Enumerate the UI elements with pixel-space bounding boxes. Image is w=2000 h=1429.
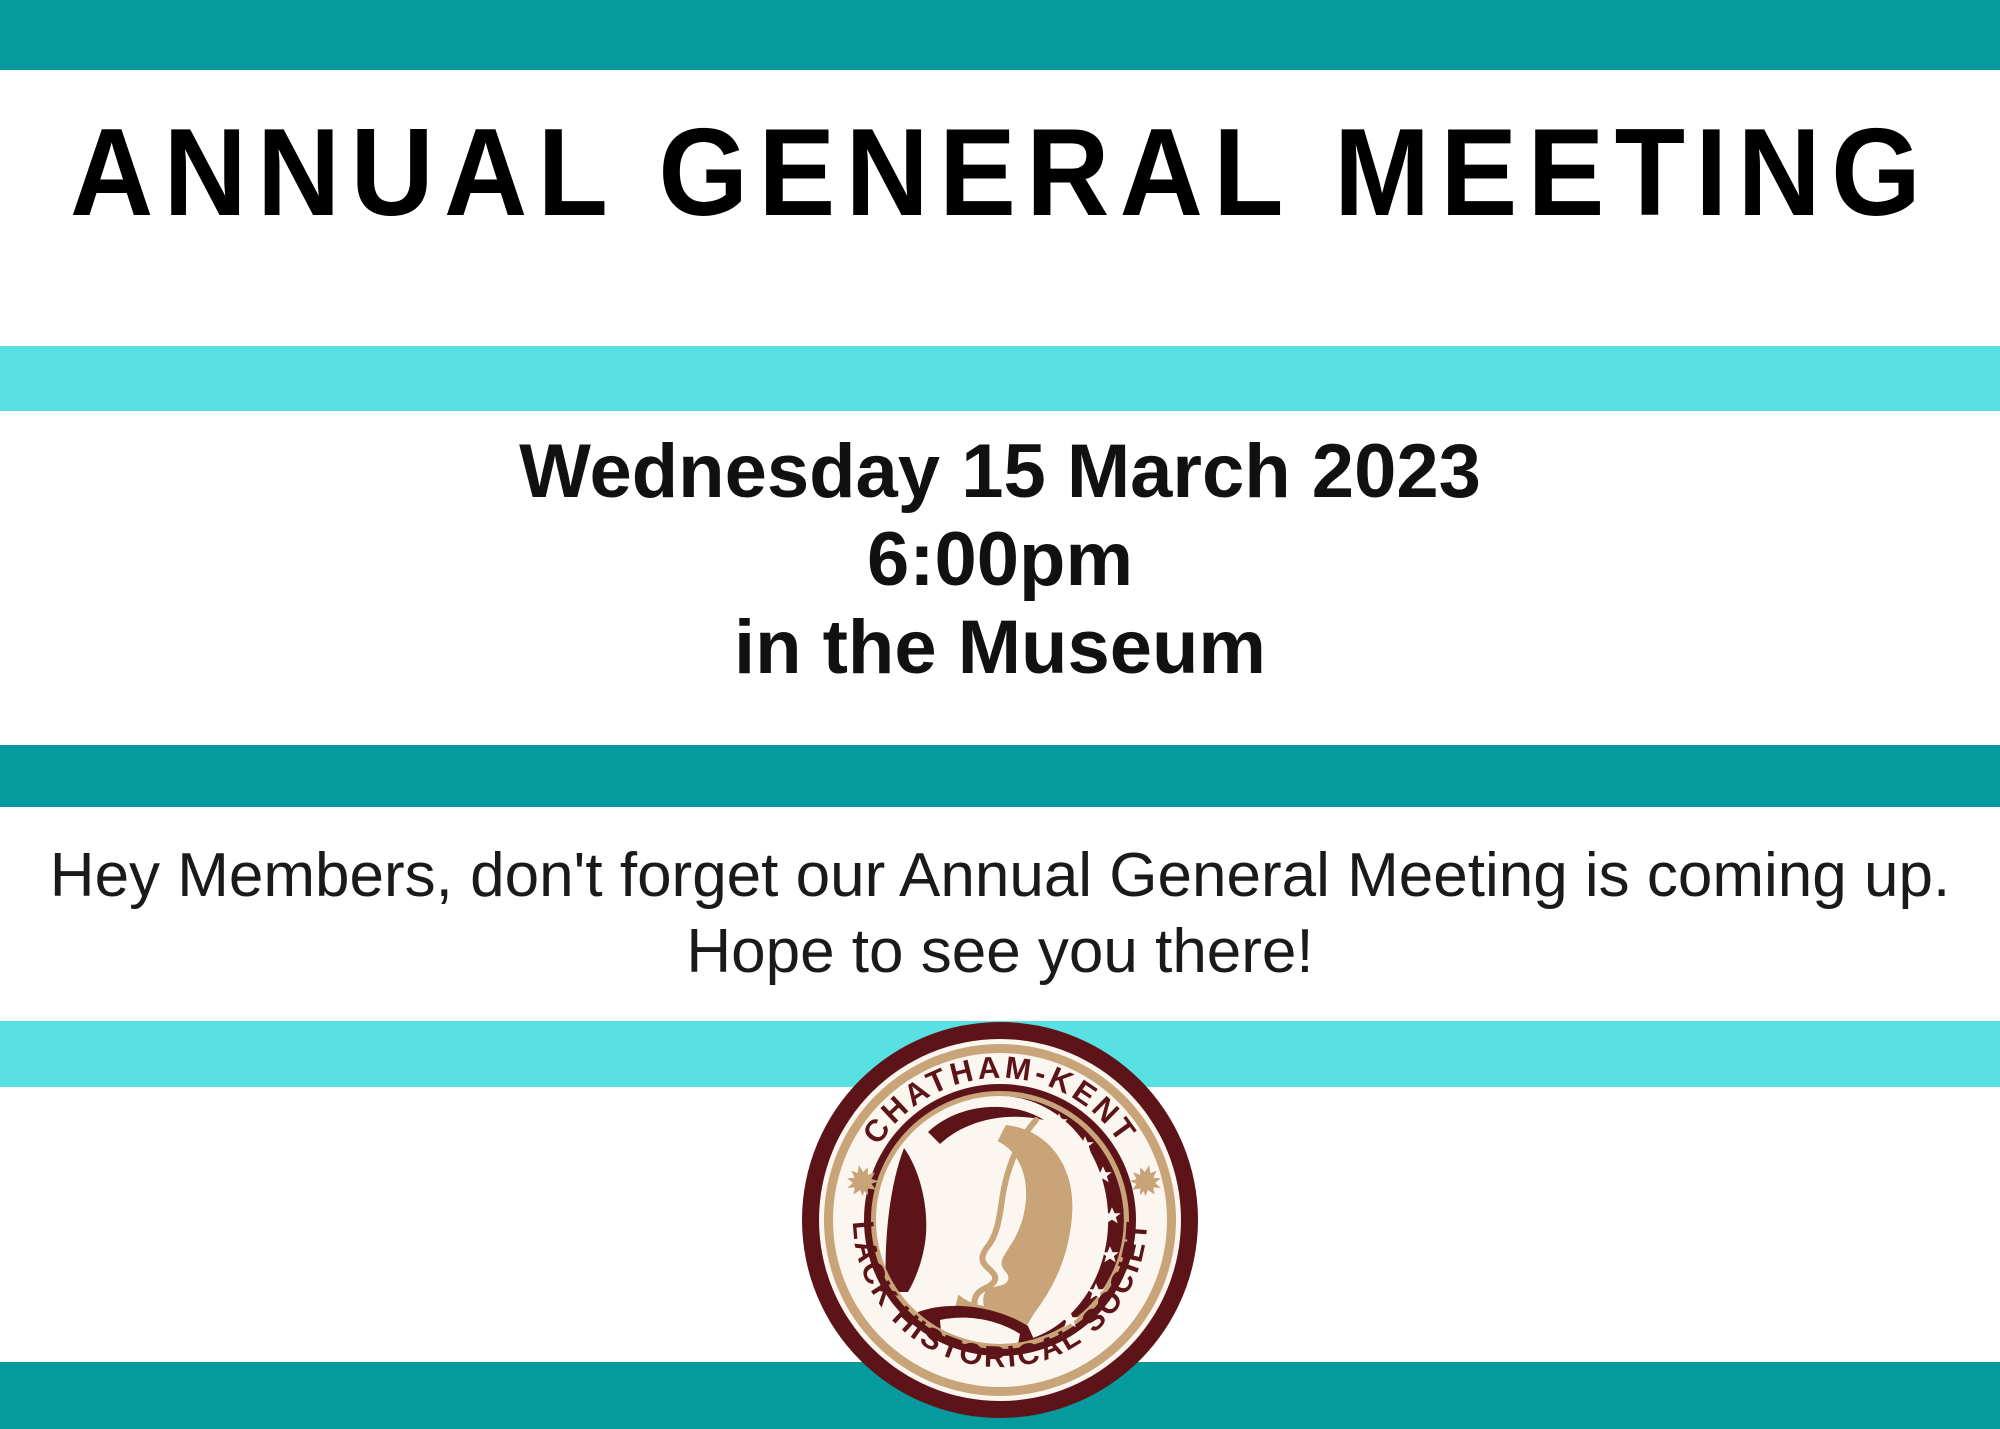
- event-details: Wednesday 15 March 2023 6:00pm in the Mu…: [0, 428, 2000, 692]
- band-cyan-upper: [0, 346, 2000, 411]
- logo-established-text: EST. 1994: [960, 1399, 1041, 1416]
- seal-icon: CHATHAM-KENT BLACK HISTORICAL SOCIETY ES…: [800, 1020, 1200, 1420]
- message-line-1: Hey Members, don't forget our Annual Gen…: [0, 838, 2000, 914]
- event-place: in the Museum: [0, 604, 2000, 692]
- message-line-2: Hope to see you there!: [0, 914, 2000, 990]
- event-time: 6:00pm: [0, 516, 2000, 604]
- member-message: Hey Members, don't forget our Annual Gen…: [0, 838, 2000, 991]
- band-teal-middle: [0, 745, 2000, 807]
- event-date: Wednesday 15 March 2023: [0, 428, 2000, 516]
- page-title: ANNUAL GENERAL MEETING: [70, 108, 1930, 238]
- poster-canvas: ANNUAL GENERAL MEETING Wednesday 15 Marc…: [0, 0, 2000, 1429]
- band-teal-top: [0, 0, 2000, 70]
- organization-logo: CHATHAM-KENT BLACK HISTORICAL SOCIETY ES…: [800, 1020, 1200, 1420]
